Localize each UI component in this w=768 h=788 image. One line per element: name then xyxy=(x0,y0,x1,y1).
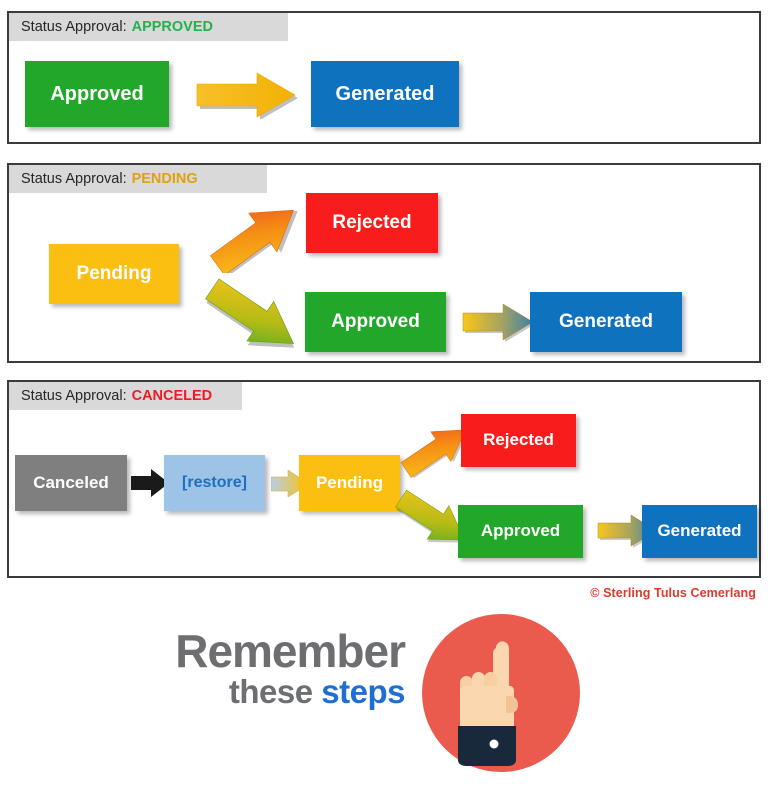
node-restore-label: [restore] xyxy=(182,474,247,492)
copyright-notice: © Sterling Tulus Cemerlang xyxy=(590,586,756,600)
arrow-pending-to-approved xyxy=(197,275,317,363)
panel-3-header-status: CANCELED xyxy=(132,388,213,404)
arrow-approved-to-generated xyxy=(461,302,535,342)
node-rejected-label: Rejected xyxy=(332,213,411,234)
panel-2-header: Status Approval: PENDING xyxy=(9,165,267,193)
panel-2-header-status: PENDING xyxy=(132,171,198,187)
node-generated[interactable]: Generated xyxy=(530,292,682,352)
node-rejected[interactable]: Rejected xyxy=(306,193,438,253)
remember-line-2-accent: steps xyxy=(321,673,405,710)
panel-1-header-label: Status Approval: xyxy=(21,19,127,35)
panel-3-header: Status Approval: CANCELED xyxy=(9,382,242,410)
node-pending[interactable]: Pending xyxy=(299,455,400,511)
panel-1-header-status: APPROVED xyxy=(132,19,213,35)
panel-status-pending: Status Approval: PENDING Pending xyxy=(7,163,761,363)
node-generated[interactable]: Generated xyxy=(642,505,757,558)
node-generated-label: Generated xyxy=(559,312,653,333)
node-approved-label: Approved xyxy=(481,522,560,541)
node-pending-label: Pending xyxy=(77,264,152,285)
node-canceled-label: Canceled xyxy=(33,474,109,493)
node-approved[interactable]: Approved xyxy=(458,505,583,558)
node-canceled[interactable]: Canceled xyxy=(15,455,127,511)
remember-line-2-plain: these xyxy=(229,673,321,710)
node-generated-label: Generated xyxy=(657,522,741,541)
remember-text: Remember these steps xyxy=(150,628,405,710)
panel-2-header-label: Status Approval: xyxy=(21,171,127,187)
infographic-canvas: STEM www.sterling-team.com Status Approv… xyxy=(0,0,768,788)
node-pending[interactable]: Pending xyxy=(49,244,179,304)
panel-status-canceled: Status Approval: CANCELED Canceled [rest… xyxy=(7,380,761,578)
remember-these-steps-block: Remember these steps xyxy=(150,614,620,782)
node-approved-label: Approved xyxy=(331,312,420,333)
panel-status-approved: Status Approval: APPROVED Approved Gener… xyxy=(7,11,761,144)
remember-line-1: Remember xyxy=(150,628,405,674)
node-generated-label: Generated xyxy=(336,83,435,105)
node-rejected[interactable]: Rejected xyxy=(461,414,576,467)
node-approved-label: Approved xyxy=(50,83,143,105)
remember-line-2: these steps xyxy=(150,674,405,710)
arrow-approved-to-generated xyxy=(195,71,299,119)
panel-1-header: Status Approval: APPROVED xyxy=(9,13,288,41)
node-generated[interactable]: Generated xyxy=(311,61,459,127)
node-rejected-label: Rejected xyxy=(483,431,554,450)
node-restore[interactable]: [restore] xyxy=(164,455,265,511)
node-pending-label: Pending xyxy=(316,474,383,493)
panel-3-header-label: Status Approval: xyxy=(21,388,127,404)
node-approved[interactable]: Approved xyxy=(25,61,169,127)
pointing-hand-icon xyxy=(422,614,580,772)
node-approved[interactable]: Approved xyxy=(305,292,446,352)
arrow-pending-to-rejected xyxy=(201,193,311,273)
